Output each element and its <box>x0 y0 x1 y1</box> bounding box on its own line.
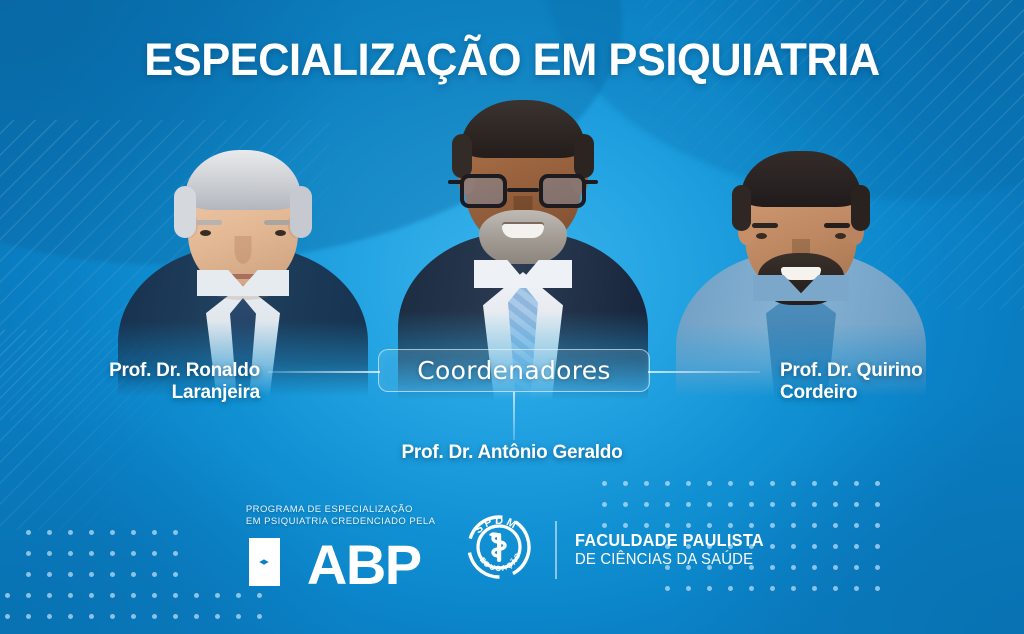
abp-logo-block: PROGRAMA DE ESPECIALIZAÇÃO EM PSIQUIATRI… <box>246 504 436 596</box>
coordinator-name-right: Prof. Dr. Quirino Cordeiro <box>780 360 1024 404</box>
faculdade-line2: DE CIÊNCIAS DA SAÚDE <box>575 551 764 569</box>
coordinator-name-center-line1: Prof. Dr. Antônio Geraldo <box>0 442 1024 464</box>
coordinator-name-left: Prof. Dr. Ronaldo Laranjeira <box>0 360 260 404</box>
footer-divider <box>555 521 557 579</box>
connector-line-right <box>648 371 760 373</box>
spdm-logo-block: SPDM EDUCAÇÃO FACULDADE PAULISTA DE CIÊN… <box>461 509 778 590</box>
promo-banner: ESPECIALIZAÇÃO EM PSIQUIATRIA <box>0 0 1024 634</box>
coordinator-name-right-line1: Prof. Dr. Quirino <box>780 360 1024 382</box>
faculdade-paulista-text: FACULDADE PAULISTA DE CIÊNCIAS DA SAÚDE <box>575 531 778 569</box>
abp-chalice-icon <box>246 533 304 596</box>
portrait-quirino-cordeiro <box>676 135 926 397</box>
spdm-emblem-icon: SPDM EDUCAÇÃO <box>461 509 537 590</box>
page-title: ESPECIALIZAÇÃO EM PSIQUIATRIA <box>18 34 1006 86</box>
coordinator-name-left-line2: Laranjeira <box>0 382 260 404</box>
coordinator-name-left-line1: Prof. Dr. Ronaldo <box>0 360 260 382</box>
connector-line-center <box>513 392 515 440</box>
abp-kicker-text: PROGRAMA DE ESPECIALIZAÇÃO EM PSIQUIATRI… <box>246 504 436 529</box>
coordinator-name-right-line2: Cordeiro <box>780 382 1024 404</box>
abp-logo: ABP <box>246 533 421 596</box>
coordinators-badge-label: Coordenadores <box>417 356 611 385</box>
connector-line-left <box>268 371 380 373</box>
faculdade-line1: FACULDADE PAULISTA <box>575 531 764 551</box>
footer-logos: PROGRAMA DE ESPECIALIZAÇÃO EM PSIQUIATRI… <box>0 504 1024 596</box>
abp-wordmark: ABP <box>307 541 421 589</box>
coordinators-badge: Coordenadores <box>378 349 650 392</box>
coordinator-name-center: Prof. Dr. Antônio Geraldo <box>0 442 1024 464</box>
portrait-ronaldo-laranjeira <box>118 128 368 396</box>
